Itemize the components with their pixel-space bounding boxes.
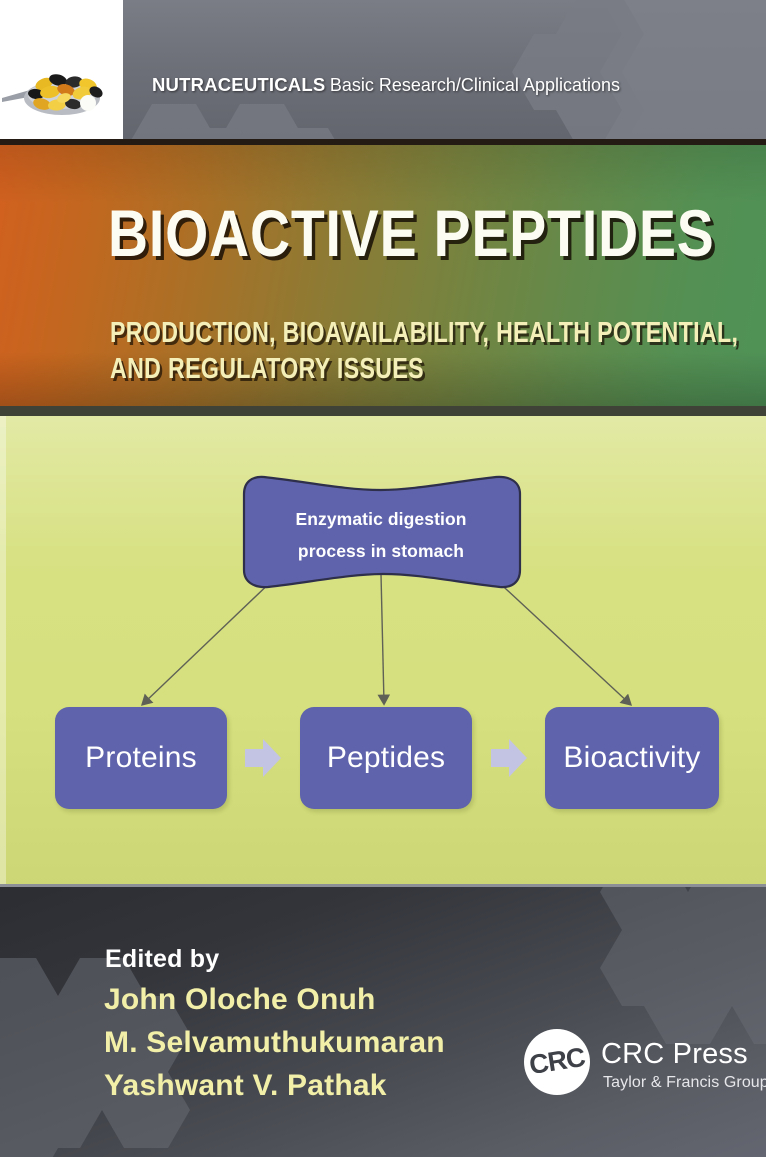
- crc-press-logo: CRC CRC Press Taylor & Francis Group: [524, 1027, 724, 1099]
- editor-list: John Oloche Onuh M. Selvamuthukumaran Ya…: [104, 978, 445, 1107]
- flow-box-peptides-label: Peptides: [327, 741, 445, 775]
- banner-line-2: process in stomach: [252, 535, 510, 567]
- chevron-right-icon-1: [243, 736, 283, 780]
- publisher-imprint: Taylor & Francis Group: [603, 1074, 766, 1092]
- flow-box-bioactivity: Bioactivity: [545, 707, 719, 809]
- arrow-down-icon-right: [492, 576, 630, 704]
- series-title: NUTRACEUTICALS Basic Research/Clinical A…: [152, 74, 620, 96]
- banner-label: Enzymatic digestion process in stomach: [252, 503, 510, 567]
- book-cover: NUTRACEUTICALS Basic Research/Clinical A…: [0, 0, 766, 1157]
- flow-box-bioactivity-label: Bioactivity: [563, 741, 700, 775]
- editor-name-1: John Oloche Onuh: [104, 978, 445, 1021]
- book-subtitle-line1: PRODUCTION, BIOAVAILABILITY, HEALTH POTE…: [110, 315, 638, 351]
- bottom-band-divider: [0, 884, 766, 887]
- book-subtitle: PRODUCTION, BIOAVAILABILITY, HEALTH POTE…: [110, 315, 638, 387]
- editor-name-3: Yashwant V. Pathak: [104, 1064, 445, 1107]
- series-header-band: NUTRACEUTICALS Basic Research/Clinical A…: [0, 0, 766, 143]
- publisher-name: CRC Press: [601, 1038, 748, 1071]
- book-subtitle-line2: AND REGULATORY ISSUES: [110, 351, 638, 387]
- crc-badge-label: CRC: [524, 1041, 590, 1082]
- crc-badge-icon: CRC: [524, 1029, 590, 1095]
- series-tagline: Basic Research/Clinical Applications: [330, 75, 620, 95]
- book-title: BIOACTIVE PEPTIDES: [108, 198, 612, 268]
- flow-box-proteins-label: Proteins: [85, 741, 197, 775]
- edited-by-label: Edited by: [105, 945, 219, 974]
- header-divider: [0, 139, 766, 145]
- pills-on-spoon-icon: [0, 62, 123, 124]
- arrow-down-icon-left: [143, 576, 277, 704]
- editor-name-2: M. Selvamuthukumaran: [104, 1021, 445, 1064]
- title-band-divider: [0, 406, 766, 416]
- banner-line-1: Enzymatic digestion: [252, 503, 510, 535]
- flow-box-proteins: Proteins: [55, 707, 227, 809]
- series-name: NUTRACEUTICALS: [152, 74, 325, 95]
- arrow-down-icon-middle: [381, 574, 384, 703]
- flow-box-peptides: Peptides: [300, 707, 472, 809]
- chevron-right-icon-2: [489, 736, 529, 780]
